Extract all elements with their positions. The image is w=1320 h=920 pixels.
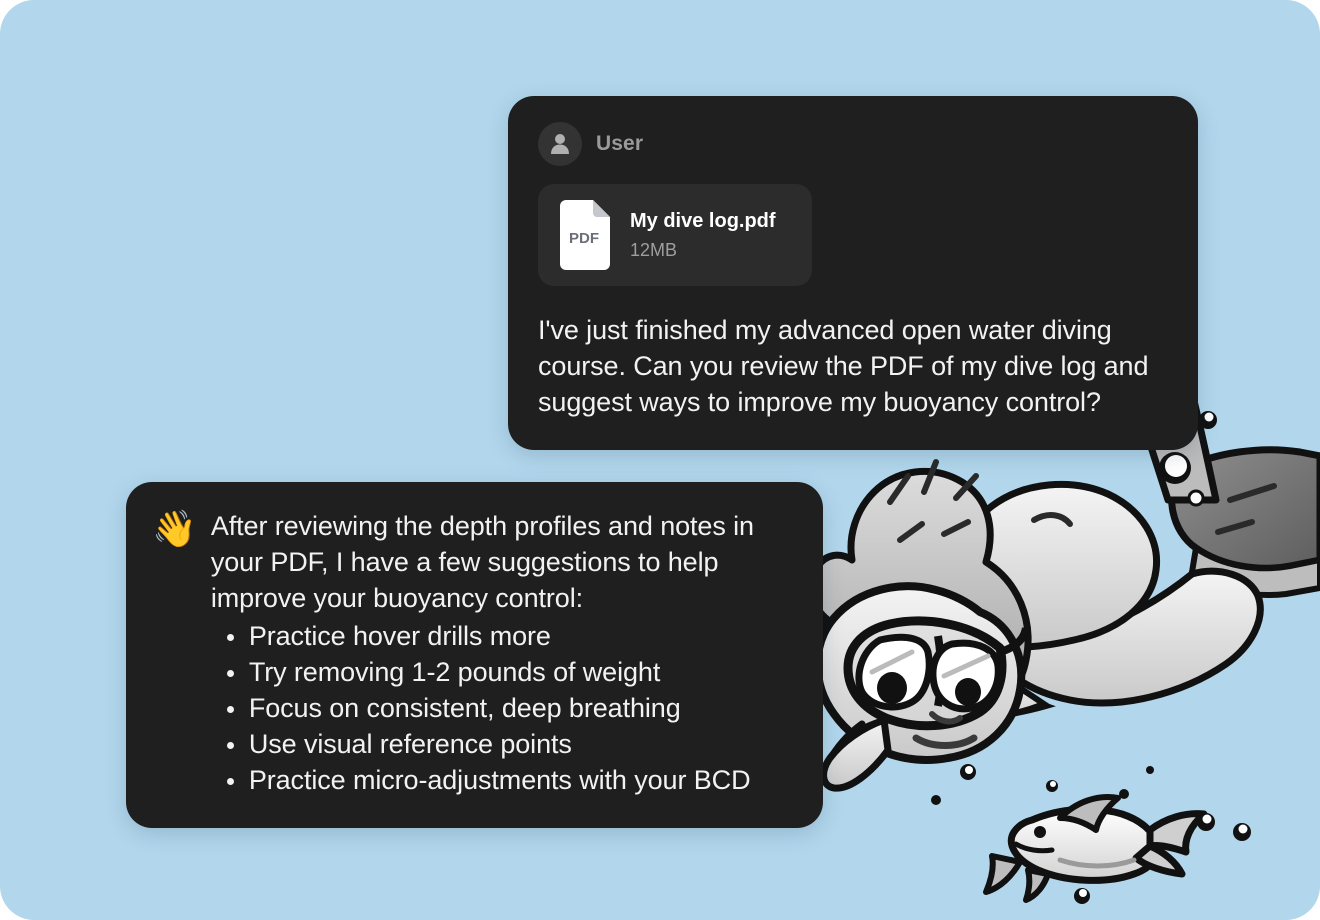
assistant-body: After reviewing the depth profiles and n… bbox=[211, 508, 795, 798]
user-header: User bbox=[538, 122, 1168, 166]
attachment-file-name: My dive log.pdf bbox=[630, 210, 776, 233]
person-icon bbox=[549, 132, 571, 156]
user-message-text: I've just finished my advanced open wate… bbox=[538, 312, 1168, 420]
user-name-label: User bbox=[596, 132, 643, 156]
user-message-bubble: User PDF My dive log.pdf 12MB I've just … bbox=[508, 96, 1198, 450]
svg-text:PDF: PDF bbox=[569, 230, 599, 247]
assistant-intro-text: After reviewing the depth profiles and n… bbox=[211, 508, 795, 616]
list-item: Practice hover drills more bbox=[247, 618, 795, 654]
attachment-card[interactable]: PDF My dive log.pdf 12MB bbox=[538, 184, 812, 286]
pdf-file-icon: PDF bbox=[556, 200, 612, 270]
fish-illustration bbox=[986, 797, 1204, 900]
waving-hand-emoji: 👋 bbox=[152, 510, 197, 548]
list-item: Practice micro-adjustments with your BCD bbox=[247, 762, 795, 798]
attachment-file-size: 12MB bbox=[630, 240, 776, 261]
attachment-meta: My dive log.pdf 12MB bbox=[630, 210, 776, 261]
air-bubbles bbox=[931, 370, 1251, 904]
list-item: Focus on consistent, deep breathing bbox=[247, 690, 795, 726]
avatar bbox=[538, 122, 582, 166]
list-item: Use visual reference points bbox=[247, 726, 795, 762]
screenshot-root: User PDF My dive log.pdf 12MB I've just … bbox=[0, 0, 1320, 920]
list-item: Try removing 1-2 pounds of weight bbox=[247, 654, 795, 690]
suggestion-list: Practice hover drills more Try removing … bbox=[211, 618, 795, 798]
assistant-message-bubble: 👋 After reviewing the depth profiles and… bbox=[126, 482, 823, 828]
